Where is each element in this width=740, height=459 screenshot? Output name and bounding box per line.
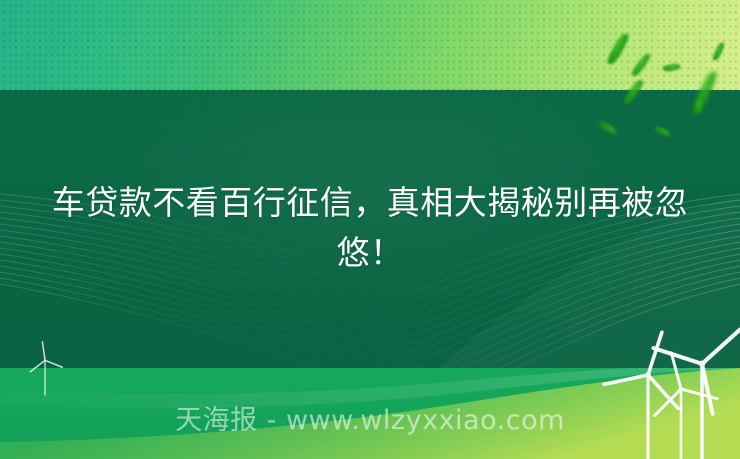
- poster-title: 车贷款不看百行征信，真相大揭秘别再被忽悠！: [0, 178, 740, 278]
- gradient-dot-band: [0, 0, 740, 92]
- poster-canvas: 车贷款不看百行征信，真相大揭秘别再被忽悠！ 天海报 - www.wlzyxxia…: [0, 0, 740, 459]
- poster-title-text: 车贷款不看百行征信，真相大揭秘别再被忽悠！: [42, 178, 698, 278]
- watermark-text: 天海报 - www.wlzyxxiao.com: [0, 404, 740, 438]
